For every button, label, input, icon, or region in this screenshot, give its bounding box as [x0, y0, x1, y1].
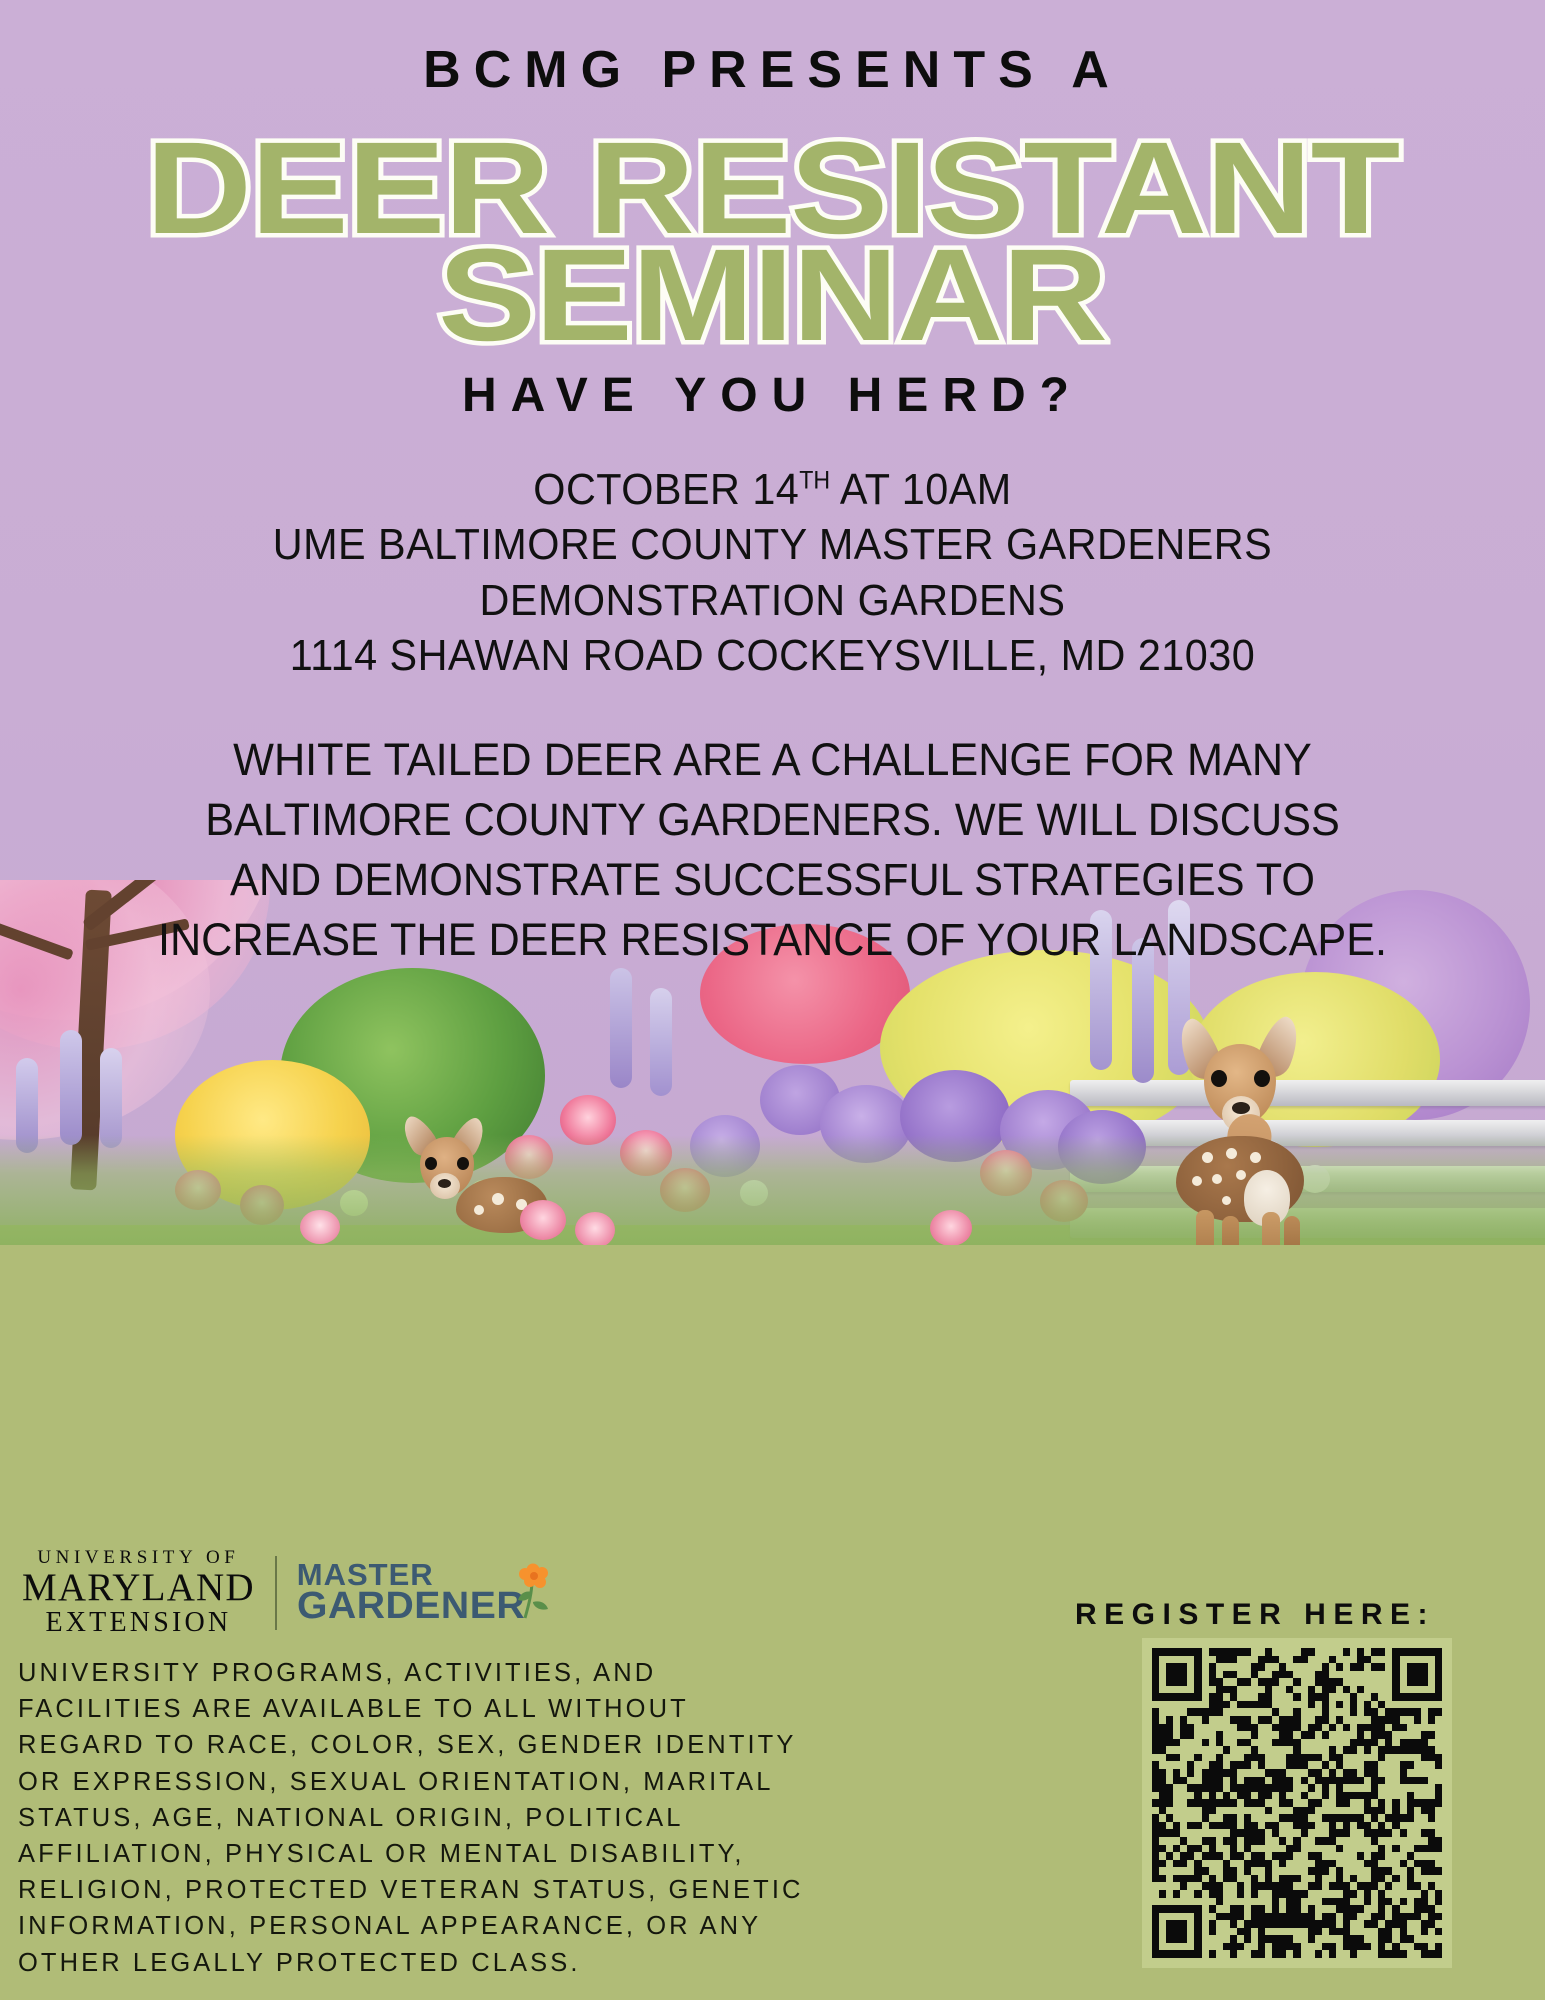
- page-subhead: HAVE YOU HERD?: [0, 368, 1545, 423]
- legal-line: OTHER LEGALLY PROTECTED CLASS.: [18, 1945, 908, 1981]
- description-line-2: BALTIMORE COUNTY GARDENERS. WE WILL DISC…: [69, 790, 1475, 850]
- master-gardener-logo: MASTER GARDENER: [297, 1560, 518, 1625]
- umd-logo-line-3: EXTENSION: [22, 1609, 255, 1637]
- venue-line-2: DEMONSTRATION GARDENS: [46, 573, 1498, 628]
- registration-qr-code[interactable]: [1142, 1638, 1452, 1968]
- legal-line: FACILITIES ARE AVAILABLE TO ALL WITHOUT: [18, 1691, 908, 1727]
- event-date-prefix: OCTOBER 14: [533, 465, 799, 514]
- logo-divider: [275, 1556, 277, 1630]
- legal-line: INFORMATION, PERSONAL APPEARANCE, OR ANY: [18, 1908, 908, 1944]
- venue-line-1: UME BALTIMORE COUNTY MASTER GARDENERS: [46, 517, 1498, 572]
- organization-logo: UNIVERSITY OF MARYLAND EXTENSION MASTER …: [22, 1548, 518, 1637]
- flower-icon: [516, 1562, 552, 1620]
- description-line-3: AND DEMONSTRATE SUCCESSFUL STRATEGIES TO: [69, 850, 1475, 910]
- event-time: AT 10AM: [830, 465, 1012, 514]
- event-date-ordinal: TH: [799, 467, 830, 494]
- qr-code-modules: [1152, 1648, 1442, 1958]
- register-here-label: REGISTER HERE:: [1045, 1598, 1465, 1632]
- description-line-4: INCREASE THE DEER RESISTANCE OF YOUR LAN…: [69, 910, 1475, 970]
- legal-line: REGARD TO RACE, COLOR, SEX, GENDER IDENT…: [18, 1727, 908, 1763]
- umd-logo-line-2: MARYLAND: [22, 1568, 255, 1607]
- flyer-poster: BCMG PRESENTS A DEER RESISTANT SEMINAR H…: [0, 0, 1545, 2000]
- venue-address: 1114 SHAWAN ROAD COCKEYSVILLE, MD 21030: [46, 628, 1498, 683]
- umd-extension-logo: UNIVERSITY OF MARYLAND EXTENSION: [22, 1548, 255, 1637]
- event-description: WHITE TAILED DEER ARE A CHALLENGE FOR MA…: [40, 730, 1505, 969]
- legal-line: AFFILIATION, PHYSICAL OR MENTAL DISABILI…: [18, 1836, 908, 1872]
- title-line-2: SEMINAR: [0, 239, 1545, 352]
- nondiscrimination-statement: UNIVERSITY PROGRAMS, ACTIVITIES, AND FAC…: [18, 1655, 908, 1981]
- legal-line: STATUS, AGE, NATIONAL ORIGIN, POLITICAL: [18, 1800, 908, 1836]
- event-date-line: OCTOBER 14TH AT 10AM: [46, 462, 1498, 517]
- master-gardener-line-2: GARDENER: [297, 1589, 525, 1625]
- page-kicker: BCMG PRESENTS A: [0, 40, 1545, 100]
- umd-logo-line-1: UNIVERSITY OF: [22, 1548, 255, 1567]
- description-line-1: WHITE TAILED DEER ARE A CHALLENGE FOR MA…: [69, 730, 1475, 790]
- legal-line: UNIVERSITY PROGRAMS, ACTIVITIES, AND: [18, 1655, 908, 1691]
- legal-line: RELIGION, PROTECTED VETERAN STATUS, GENE…: [18, 1872, 908, 1908]
- legal-line: OR EXPRESSION, SEXUAL ORIENTATION, MARIT…: [18, 1764, 908, 1800]
- page-title: DEER RESISTANT SEMINAR: [0, 132, 1545, 351]
- event-details: OCTOBER 14TH AT 10AM UME BALTIMORE COUNT…: [0, 462, 1545, 684]
